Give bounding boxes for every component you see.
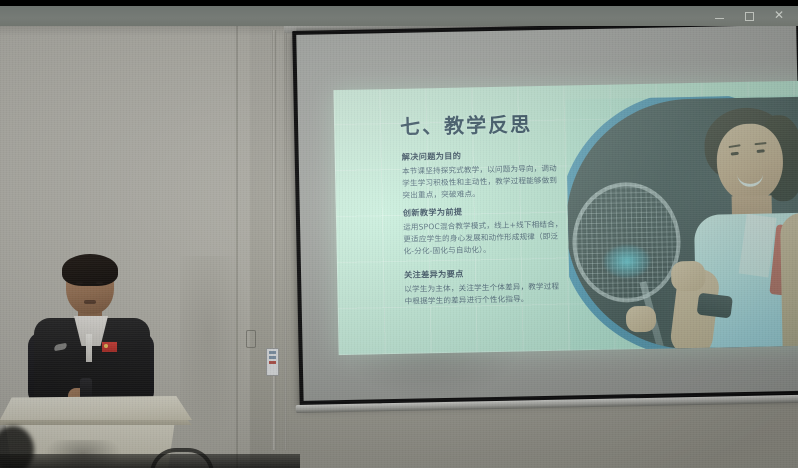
maximize-button[interactable] — [734, 7, 764, 25]
panel-button-1[interactable] — [269, 351, 276, 354]
screenshot-root: ✕ — [0, 0, 798, 468]
maximize-icon — [745, 12, 754, 21]
presentation-slide: 七、教学反思 解决问题为目的 本节课坚持探究式教学，以问题为导向，调动学生学习积… — [333, 80, 798, 355]
podium-top — [0, 396, 192, 420]
screen-frame: 七、教学反思 解决问题为目的 本节课坚持探究式教学，以问题为导向，调动学生学习积… — [292, 21, 798, 406]
minimize-button[interactable] — [704, 7, 734, 25]
presenter-placket — [86, 334, 92, 362]
wall-conduit-secondary — [284, 30, 287, 450]
screen-surface: 七、教学反思 解决问题为目的 本节课坚持探究式教学，以问题为导向，调动学生学习积… — [296, 25, 798, 401]
presenter-eye-right — [96, 282, 103, 284]
slide-projection-haze — [333, 80, 798, 355]
lecture-hall-scene: 七、教学反思 解决问题为目的 本节课坚持探究式教学，以问题为导向，调动学生学习积… — [0, 6, 798, 468]
window-controls: ✕ — [704, 7, 794, 25]
presenter-figure — [28, 258, 168, 418]
projection-screen: 七、教学反思 解决问题为目的 本节课坚持探究式教学，以问题为导向，调动学生学习积… — [292, 12, 798, 426]
close-button[interactable]: ✕ — [764, 7, 794, 25]
presenter-hair — [62, 254, 118, 286]
projector-control-panel[interactable] — [266, 348, 279, 376]
window-title-bar[interactable] — [0, 6, 798, 26]
close-icon: ✕ — [774, 9, 784, 21]
minimize-icon — [715, 18, 724, 19]
wall-hook — [246, 330, 256, 348]
presenter-mouth — [84, 300, 96, 304]
chinese-flag-emblem — [102, 342, 117, 352]
floor-shadow — [0, 454, 300, 468]
presenter-eye-left — [76, 282, 83, 284]
panel-button-2[interactable] — [269, 356, 276, 359]
top-black-strip — [0, 0, 798, 6]
panel-button-3[interactable] — [269, 361, 276, 364]
wall-conduit — [272, 30, 276, 450]
